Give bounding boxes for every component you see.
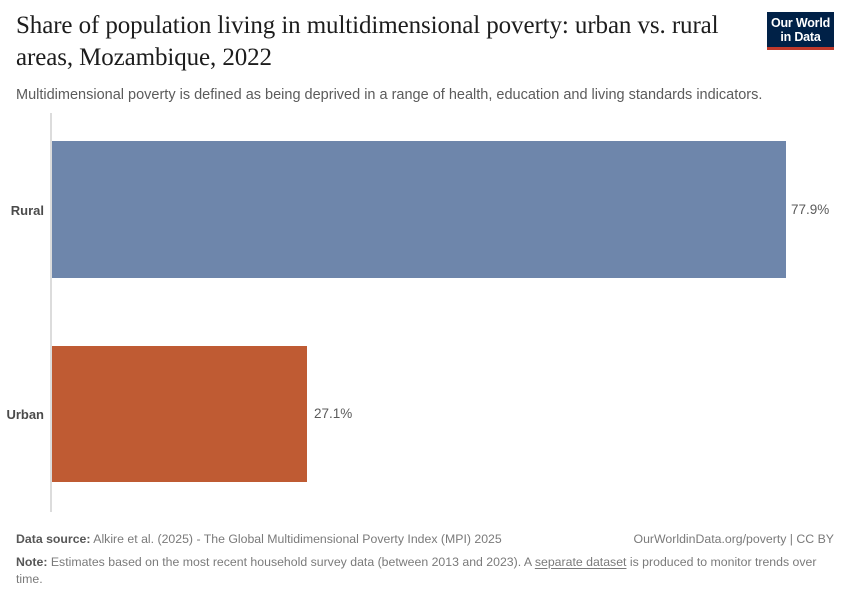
data-source-text: Alkire et al. (2025) - The Global Multid… bbox=[91, 532, 502, 546]
chart-footer: Data source: Alkire et al. (2025) - The … bbox=[16, 531, 834, 588]
bar-rural[interactable] bbox=[52, 141, 786, 278]
bar-value-label-rural: 77.9% bbox=[791, 202, 829, 217]
data-source-prefix: Data source: bbox=[16, 532, 91, 546]
bar-category-label-rural: Rural bbox=[0, 203, 44, 218]
bar-category-label-urban: Urban bbox=[0, 407, 44, 422]
footer-note: Note: Estimates based on the most recent… bbox=[16, 554, 834, 588]
license-link[interactable]: OurWorldinData.org/poverty | CC BY bbox=[634, 531, 834, 548]
bar-value-label-urban: 27.1% bbox=[314, 406, 352, 421]
chart-root: Share of population living in multidimen… bbox=[0, 0, 850, 600]
separate-dataset-link[interactable]: separate dataset bbox=[535, 555, 627, 569]
data-source: Data source: Alkire et al. (2025) - The … bbox=[16, 531, 502, 548]
note-text-part-1: Estimates based on the most recent house… bbox=[47, 555, 534, 569]
note-prefix: Note: bbox=[16, 555, 47, 569]
footer-row-source: Data source: Alkire et al. (2025) - The … bbox=[16, 531, 834, 549]
bar-urban[interactable] bbox=[52, 346, 307, 482]
plot-area: Rural 77.9% Urban 27.1% bbox=[0, 0, 850, 600]
